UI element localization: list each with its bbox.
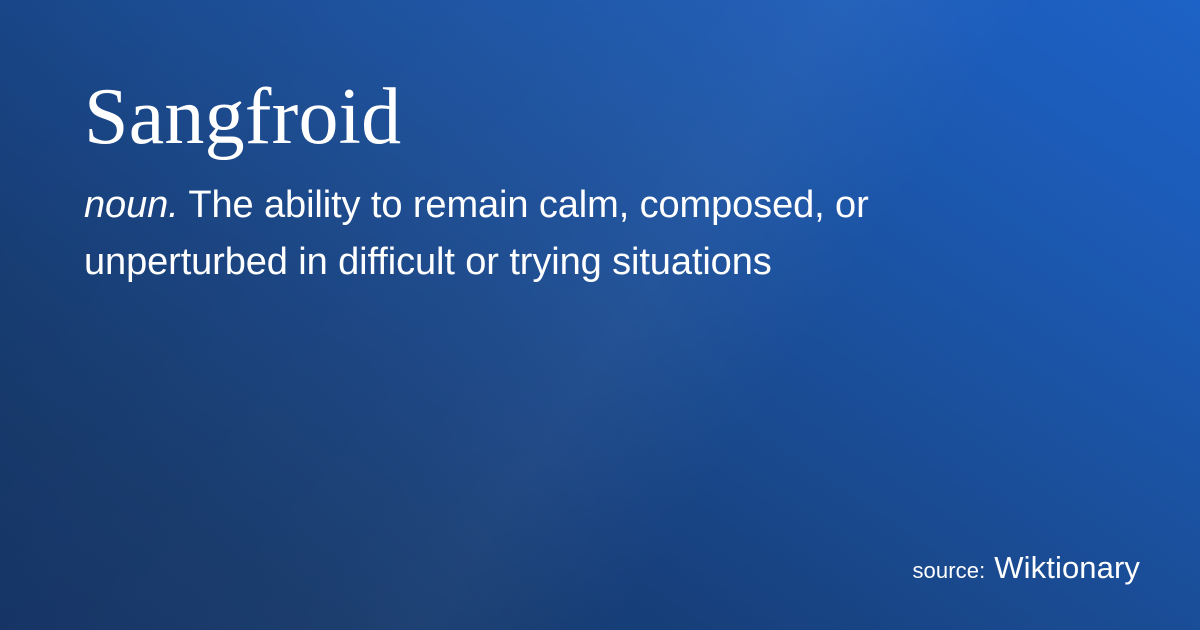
card-content: Sangfroid noun. The ability to remain ca… [84,76,1116,291]
source-attribution: source: Wiktionary [912,550,1140,586]
word-definition-card: Sangfroid noun. The ability to remain ca… [0,0,1200,630]
source-label: source: [912,558,985,584]
definition-text: noun. The ability to remain calm, compos… [84,177,1049,291]
definition-body: The ability to remain calm, composed, or… [84,184,869,283]
source-name: Wiktionary [994,550,1140,586]
headword-title: Sangfroid [84,76,1116,159]
part-of-speech-label: noun. [84,184,179,226]
